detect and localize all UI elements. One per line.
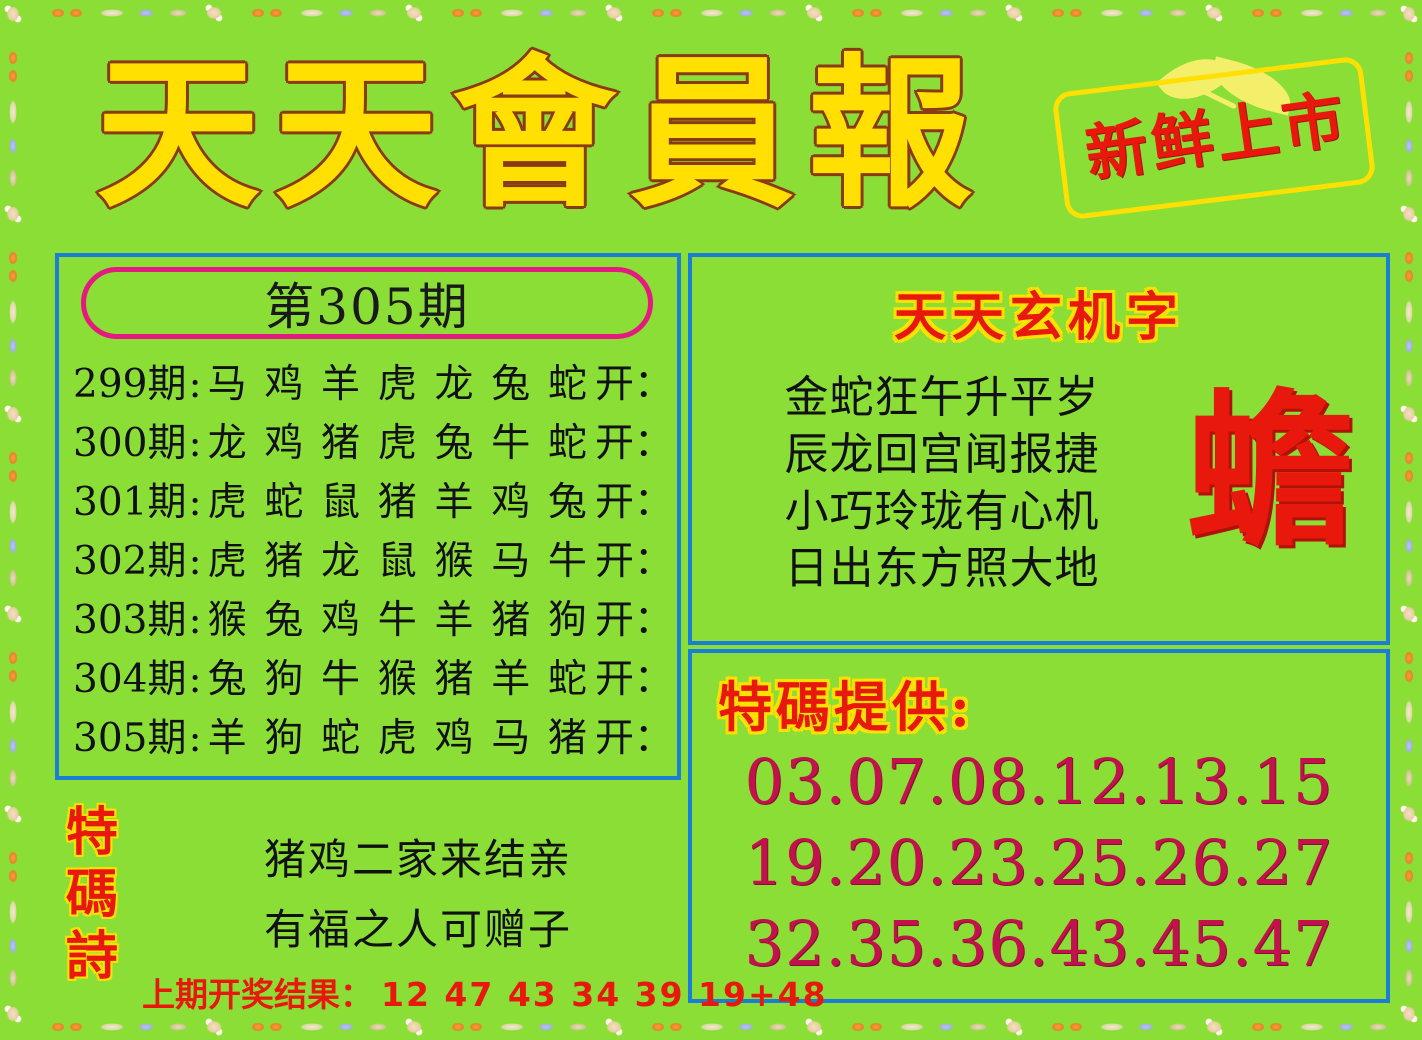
row-issue: 302期 bbox=[73, 530, 186, 586]
row-colon: : bbox=[186, 539, 203, 584]
masthead: 天天會員報 bbox=[96, 44, 1056, 224]
row-tail: 开： bbox=[593, 648, 673, 704]
decorative-border-top bbox=[0, 0, 1422, 26]
row-animals: 兔 狗 牛 猴 猪 羊 蛇 bbox=[204, 648, 593, 704]
animal-cell: 羊 bbox=[321, 353, 360, 409]
animal-cell: 牛 bbox=[548, 530, 587, 586]
animal-cell: 虎 bbox=[378, 353, 417, 409]
last-result-label: 上期开奖结果： bbox=[142, 975, 373, 1014]
row-colon: : bbox=[186, 598, 203, 643]
verse-title-char: 碼 bbox=[56, 864, 128, 926]
animal-cell: 兔 bbox=[264, 589, 303, 645]
animal-cell: 羊 bbox=[208, 707, 247, 763]
animal-cell: 猴 bbox=[434, 530, 473, 586]
mystic-verse-line: 日出东方照大地 bbox=[722, 540, 1162, 597]
animal-cell: 鸡 bbox=[321, 589, 360, 645]
mystic-verse-line: 小巧玲珑有心机 bbox=[722, 483, 1162, 540]
animal-cell: 猪 bbox=[321, 412, 360, 468]
animal-cell: 猴 bbox=[208, 589, 247, 645]
row-tail: 开： bbox=[593, 412, 673, 468]
animal-cell: 马 bbox=[208, 353, 247, 409]
table-row: 300期 : 龙 鸡 猪 虎 兔 牛 蛇 开： bbox=[73, 412, 673, 471]
number-row: 19.20.23.25.26.27 bbox=[692, 822, 1386, 903]
animal-cell: 猪 bbox=[378, 471, 417, 527]
animal-cell: 龙 bbox=[434, 353, 473, 409]
row-tail: 开： bbox=[593, 530, 673, 586]
decorative-border-right bbox=[1396, 0, 1422, 1040]
mystic-heading: 天天玄机字 bbox=[692, 275, 1386, 350]
row-animals: 虎 蛇 鼠 猪 羊 鸡 兔 bbox=[204, 471, 593, 527]
decorative-border-bottom bbox=[0, 1014, 1422, 1040]
mystic-verse-line: 辰龙回宫闻报捷 bbox=[722, 426, 1162, 483]
animal-cell: 牛 bbox=[491, 412, 530, 468]
row-issue: 301期 bbox=[73, 471, 186, 527]
animal-cell: 羊 bbox=[434, 589, 473, 645]
row-tail: 开： bbox=[593, 707, 673, 763]
table-row: 301期 : 虎 蛇 鼠 猪 羊 鸡 兔 开： bbox=[73, 471, 673, 530]
animal-cell: 虎 bbox=[378, 412, 417, 468]
animal-cell: 猪 bbox=[491, 589, 530, 645]
animal-cell: 羊 bbox=[434, 471, 473, 527]
animal-cell: 兔 bbox=[491, 353, 530, 409]
animal-cell: 狗 bbox=[548, 589, 587, 645]
row-animals: 龙 鸡 猪 虎 兔 牛 蛇 bbox=[204, 412, 593, 468]
animal-cell: 马 bbox=[491, 707, 530, 763]
last-result: 上期开奖结果：12 47 43 34 39 19+48 bbox=[142, 968, 702, 1016]
animal-cell: 猪 bbox=[264, 530, 303, 586]
mystic-verse: 金蛇狂午升平岁 辰龙回宫闻报捷 小巧玲珑有心机 日出东方照大地 bbox=[722, 369, 1162, 597]
table-row: 305期 : 羊 狗 蛇 虎 鸡 马 猪 开： bbox=[73, 707, 673, 766]
history-list: 299期 : 马 鸡 羊 虎 龙 兔 蛇 开： 300期 : 龙 鸡 bbox=[73, 353, 673, 766]
animal-cell: 虎 bbox=[378, 707, 417, 763]
animal-cell: 兔 bbox=[208, 648, 247, 704]
animal-cell: 鸡 bbox=[434, 707, 473, 763]
animal-cell: 猪 bbox=[434, 648, 473, 704]
verse-title-char: 特 bbox=[56, 802, 128, 864]
special-heading: 特碼提供: bbox=[718, 663, 974, 742]
animal-cell: 猪 bbox=[548, 707, 587, 763]
mystic-panel: 天天玄机字 金蛇狂午升平岁 辰龙回宫闻报捷 小巧玲珑有心机 日出东方照大地 蟾 bbox=[688, 253, 1390, 645]
animal-cell: 蛇 bbox=[548, 648, 587, 704]
animal-cell: 兔 bbox=[434, 412, 473, 468]
row-issue: 304期 bbox=[73, 648, 186, 704]
animal-cell: 兔 bbox=[548, 471, 587, 527]
row-tail: 开： bbox=[593, 353, 673, 409]
issue-badge: 第305期 bbox=[81, 267, 653, 339]
mystic-verse-line: 金蛇狂午升平岁 bbox=[722, 369, 1162, 426]
verse-title-vertical: 特 碼 詩 bbox=[56, 802, 128, 988]
row-issue: 303期 bbox=[73, 589, 186, 645]
row-colon: : bbox=[186, 480, 203, 525]
animal-cell: 鸡 bbox=[264, 412, 303, 468]
poster-canvas: 天天會員報 新鲜上市 第305期 299期 : 马 鸡 羊 虎 龙 兔 bbox=[0, 0, 1422, 1040]
animal-cell: 虎 bbox=[208, 530, 247, 586]
animal-cell: 鼠 bbox=[378, 530, 417, 586]
row-animals: 虎 猪 龙 鼠 猴 马 牛 bbox=[204, 530, 593, 586]
row-colon: : bbox=[186, 362, 203, 407]
animal-cell: 虎 bbox=[208, 471, 247, 527]
animal-cell: 蛇 bbox=[548, 353, 587, 409]
animal-cell: 牛 bbox=[378, 589, 417, 645]
masthead-title: 天天會員報 bbox=[96, 44, 1056, 224]
animal-cell: 羊 bbox=[491, 648, 530, 704]
fresh-badge: 新鲜上市 bbox=[1050, 52, 1380, 212]
number-row: 03.07.08.12.13.15 bbox=[692, 741, 1386, 822]
row-animals: 猴 兔 鸡 牛 羊 猪 狗 bbox=[204, 589, 593, 645]
verse-block: 特 碼 詩 猪鸡二家来结亲 有福之人可赠子 上期开奖结果：12 47 43 34… bbox=[38, 792, 678, 1024]
verse-title-char: 詩 bbox=[56, 926, 128, 988]
animal-cell: 蛇 bbox=[264, 471, 303, 527]
row-animals: 马 鸡 羊 虎 龙 兔 蛇 bbox=[204, 353, 593, 409]
row-animals: 羊 狗 蛇 虎 鸡 马 猪 bbox=[204, 707, 593, 763]
verse-line: 猪鸡二家来结亲 bbox=[178, 826, 658, 887]
animal-cell: 蛇 bbox=[321, 707, 360, 763]
animal-cell: 猴 bbox=[378, 648, 417, 704]
row-issue: 300期 bbox=[73, 412, 186, 468]
animal-cell: 鼠 bbox=[321, 471, 360, 527]
animal-cell: 狗 bbox=[264, 648, 303, 704]
animal-cell: 蛇 bbox=[548, 412, 587, 468]
last-result-numbers: 12 47 43 34 39 19+48 bbox=[373, 975, 828, 1014]
table-row: 299期 : 马 鸡 羊 虎 龙 兔 蛇 开： bbox=[73, 353, 673, 412]
special-numbers-list: 03.07.08.12.13.15 19.20.23.25.26.27 32.3… bbox=[692, 741, 1386, 984]
mystic-big-character: 蟾 bbox=[1160, 381, 1380, 561]
animal-cell: 龙 bbox=[321, 530, 360, 586]
animal-cell: 龙 bbox=[208, 412, 247, 468]
table-row: 302期 : 虎 猪 龙 鼠 猴 马 牛 开： bbox=[73, 530, 673, 589]
verse-line: 有福之人可赠子 bbox=[178, 896, 658, 957]
animal-cell: 鸡 bbox=[264, 353, 303, 409]
row-colon: : bbox=[186, 716, 203, 761]
special-numbers-panel: 特碼提供: 03.07.08.12.13.15 19.20.23.25.26.2… bbox=[688, 649, 1390, 1003]
animal-cell: 马 bbox=[491, 530, 530, 586]
table-row: 303期 : 猴 兔 鸡 牛 羊 猪 狗 开： bbox=[73, 589, 673, 648]
row-colon: : bbox=[186, 421, 203, 466]
animal-cell: 牛 bbox=[321, 648, 360, 704]
row-issue: 299期 bbox=[73, 353, 186, 409]
animal-cell: 鸡 bbox=[491, 471, 530, 527]
row-tail: 开： bbox=[593, 471, 673, 527]
number-row: 32.35.36.43.45.47 bbox=[692, 903, 1386, 984]
decorative-border-left bbox=[0, 0, 26, 1040]
animal-cell: 狗 bbox=[264, 707, 303, 763]
history-panel: 第305期 299期 : 马 鸡 羊 虎 龙 兔 蛇 开： 300期 : bbox=[55, 253, 681, 780]
row-issue: 305期 bbox=[73, 707, 186, 763]
issue-label: 第305期 bbox=[264, 267, 469, 339]
row-colon: : bbox=[186, 657, 203, 702]
row-tail: 开： bbox=[593, 589, 673, 645]
table-row: 304期 : 兔 狗 牛 猴 猪 羊 蛇 开： bbox=[73, 648, 673, 707]
